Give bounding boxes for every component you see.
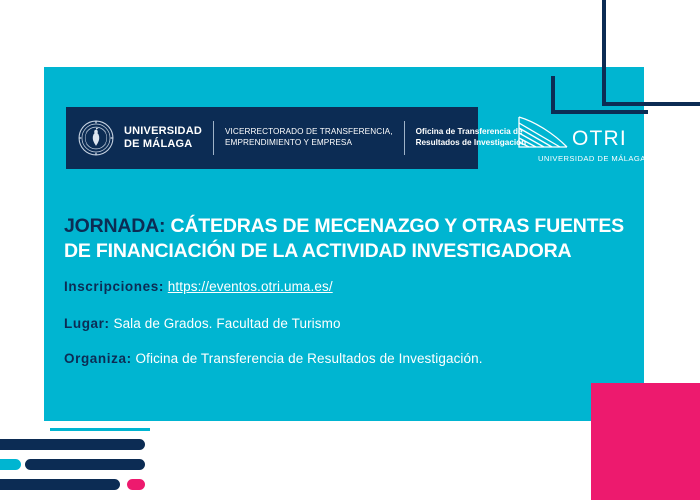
bar-row2-cyan: [0, 458, 22, 471]
inscripciones-line: Inscripciones: https://eventos.otri.uma.…: [64, 279, 333, 294]
vicerrectorado-line2: EMPRENDIMIENTO Y EMPRESA: [225, 138, 393, 149]
inscripciones-label: Inscripciones:: [64, 279, 164, 294]
divider-1: [213, 121, 214, 155]
otri-logo-row: OTRI: [516, 116, 627, 150]
lugar-label: Lugar:: [64, 316, 110, 331]
poster-canvas: UNIVERSIDAD DE MÁLAGA VICERRECTORADO DE …: [0, 0, 700, 500]
page-title: JORNADA: CÁTEDRAS DE MECENAZGO Y OTRAS F…: [64, 214, 624, 264]
inscripciones-link[interactable]: https://eventos.otri.uma.es/: [168, 279, 333, 294]
lugar-value: Sala de Grados. Facultad de Turismo: [113, 316, 340, 331]
bar-row3-navy: [0, 478, 121, 491]
uma-wordmark: UNIVERSIDAD DE MÁLAGA: [124, 125, 202, 152]
vicerrectorado-line1: VICERRECTORADO DE TRANSFERENCIA,: [225, 127, 393, 138]
institutional-header-bar: UNIVERSIDAD DE MÁLAGA VICERRECTORADO DE …: [66, 107, 478, 169]
bar-row1-navy: [0, 438, 146, 451]
organiza-label: Organiza:: [64, 351, 132, 366]
uma-name-line1: UNIVERSIDAD: [124, 125, 202, 138]
otri-fan-icon: [516, 116, 568, 150]
organiza-line: Organiza: Oficina de Transferencia de Re…: [64, 351, 483, 366]
pink-accent-block: [591, 383, 700, 500]
vicerrectorado-block: VICERRECTORADO DE TRANSFERENCIA, EMPREND…: [225, 127, 393, 149]
otri-wordmark: OTRI: [572, 128, 627, 149]
headline-kicker: JORNADA:: [64, 215, 165, 237]
otri-subtitle: UNIVERSIDAD DE MÁLAGA: [538, 154, 646, 163]
oficina-line1: Oficina de Transferencia de: [416, 127, 527, 138]
otri-logo: OTRI UNIVERSIDAD DE MÁLAGA: [516, 116, 636, 168]
uma-seal-icon: [78, 120, 114, 156]
cyan-rule-decoration: [50, 428, 150, 431]
oficina-line2: Resultados de Investigación: [416, 138, 527, 149]
uma-name-line2: DE MÁLAGA: [124, 138, 202, 151]
organiza-value: Oficina de Transferencia de Resultados d…: [136, 351, 483, 366]
lugar-line: Lugar: Sala de Grados. Facultad de Turis…: [64, 316, 341, 331]
divider-2: [404, 121, 405, 155]
oficina-block: Oficina de Transferencia de Resultados d…: [416, 127, 527, 149]
bar-row3-pink: [126, 478, 146, 491]
bar-row2-navy: [24, 458, 146, 471]
bar-motif-decoration: [0, 432, 175, 500]
